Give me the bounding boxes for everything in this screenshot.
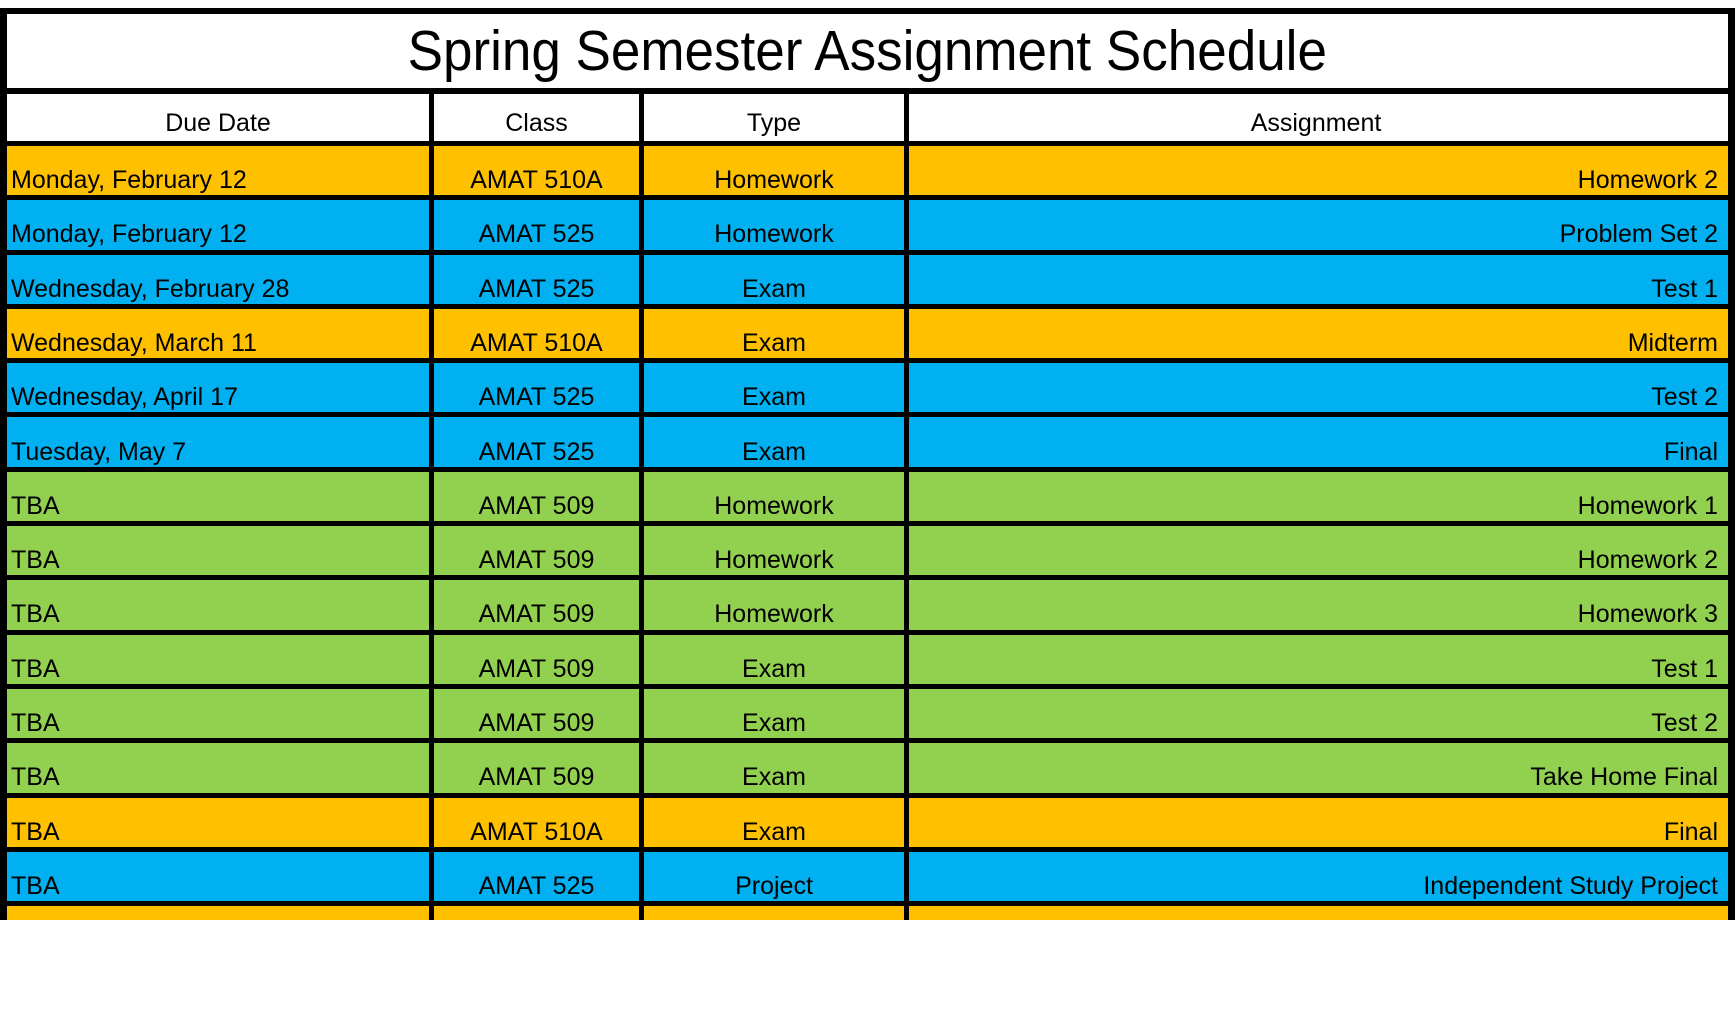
- cell-due-date[interactable]: Wednesday, April 17: [7, 363, 434, 412]
- cell-assignment[interactable]: Homework 2: [909, 526, 1723, 575]
- cell-class[interactable]: AMAT 525: [434, 417, 644, 466]
- table-row[interactable]: Wednesday, March 11AMAT 510AExamMidterm: [7, 309, 1728, 363]
- cell-assignment[interactable]: [909, 906, 1723, 920]
- cell-type[interactable]: Homework: [644, 526, 909, 575]
- cell-class[interactable]: AMAT 510A: [434, 146, 644, 195]
- cell-due-date[interactable]: TBA: [7, 472, 434, 521]
- cell-assignment[interactable]: Take Home Final: [909, 743, 1723, 792]
- cell-assignment[interactable]: Test 1: [909, 635, 1723, 684]
- cell-class[interactable]: AMAT 509: [434, 472, 644, 521]
- cell-due-date[interactable]: TBA: [7, 580, 434, 629]
- cell-class[interactable]: AMAT 509: [434, 580, 644, 629]
- cell-type[interactable]: Exam: [644, 309, 909, 358]
- cell-assignment[interactable]: Homework 3: [909, 580, 1723, 629]
- cell-assignment[interactable]: Test 2: [909, 363, 1723, 412]
- cell-assignment[interactable]: Final: [909, 798, 1723, 847]
- table-row[interactable]: TBAAMAT 509ExamTest 1: [7, 635, 1728, 689]
- table-row[interactable]: Wednesday, April 17AMAT 525ExamTest 2: [7, 363, 1728, 417]
- cell-class[interactable]: AMAT 525: [434, 200, 644, 249]
- cell-due-date[interactable]: TBA: [7, 798, 434, 847]
- schedule-table: Spring Semester Assignment Schedule Due …: [0, 8, 1735, 920]
- cell-due-date[interactable]: Wednesday, March 11: [7, 309, 434, 358]
- table-row[interactable]: TBAAMAT 510AExamFinal: [7, 798, 1728, 852]
- table-row[interactable]: TBAAMAT 525ProjectIndependent Study Proj…: [7, 852, 1728, 906]
- cell-class[interactable]: AMAT 509: [434, 689, 644, 738]
- cell-type[interactable]: Exam: [644, 363, 909, 412]
- cell-type[interactable]: Exam: [644, 635, 909, 684]
- cell-type[interactable]: Homework: [644, 580, 909, 629]
- cell-due-date[interactable]: TBA: [7, 526, 434, 575]
- table-row[interactable]: Monday, February 12AMAT 510AHomeworkHome…: [7, 146, 1728, 200]
- cell-class[interactable]: AMAT 525: [434, 363, 644, 412]
- cell-type[interactable]: Exam: [644, 689, 909, 738]
- table-row[interactable]: [7, 906, 1728, 920]
- column-header-due-date[interactable]: Due Date: [7, 94, 434, 141]
- cell-class[interactable]: AMAT 510A: [434, 309, 644, 358]
- cell-assignment[interactable]: Homework 2: [909, 146, 1723, 195]
- column-header-assignment[interactable]: Assignment: [909, 94, 1723, 141]
- cell-class[interactable]: AMAT 525: [434, 255, 644, 304]
- cell-class[interactable]: AMAT 525: [434, 852, 644, 901]
- cell-class[interactable]: AMAT 509: [434, 526, 644, 575]
- cell-type[interactable]: Exam: [644, 417, 909, 466]
- cell-due-date[interactable]: TBA: [7, 852, 434, 901]
- table-row[interactable]: TBAAMAT 509HomeworkHomework 2: [7, 526, 1728, 580]
- cell-class[interactable]: AMAT 509: [434, 635, 644, 684]
- cell-type[interactable]: Homework: [644, 472, 909, 521]
- table-row[interactable]: TBAAMAT 509HomeworkHomework 3: [7, 580, 1728, 634]
- table-header-row: Due Date Class Type Assignment: [7, 94, 1728, 146]
- cell-type[interactable]: Exam: [644, 798, 909, 847]
- cell-due-date[interactable]: Tuesday, May 7: [7, 417, 434, 466]
- table-title-row: Spring Semester Assignment Schedule: [7, 8, 1728, 94]
- cell-assignment[interactable]: Independent Study Project: [909, 852, 1723, 901]
- cell-class[interactable]: AMAT 510A: [434, 798, 644, 847]
- cell-type[interactable]: [644, 906, 909, 920]
- cell-type[interactable]: Project: [644, 852, 909, 901]
- table-row[interactable]: TBAAMAT 509ExamTest 2: [7, 689, 1728, 743]
- cell-assignment[interactable]: Test 2: [909, 689, 1723, 738]
- column-header-class[interactable]: Class: [434, 94, 644, 141]
- cell-due-date[interactable]: [7, 906, 434, 920]
- cell-due-date[interactable]: TBA: [7, 743, 434, 792]
- cell-assignment[interactable]: Midterm: [909, 309, 1723, 358]
- cell-assignment[interactable]: Problem Set 2: [909, 200, 1723, 249]
- table-row[interactable]: Wednesday, February 28AMAT 525ExamTest 1: [7, 255, 1728, 309]
- column-header-type[interactable]: Type: [644, 94, 909, 141]
- table-row[interactable]: Monday, February 12AMAT 525HomeworkProbl…: [7, 200, 1728, 254]
- cell-type[interactable]: Homework: [644, 146, 909, 195]
- table-row[interactable]: Tuesday, May 7AMAT 525ExamFinal: [7, 417, 1728, 471]
- cell-class[interactable]: [434, 906, 644, 920]
- cell-due-date[interactable]: TBA: [7, 689, 434, 738]
- cell-due-date[interactable]: Monday, February 12: [7, 200, 434, 249]
- cell-due-date[interactable]: Monday, February 12: [7, 146, 434, 195]
- cell-type[interactable]: Homework: [644, 200, 909, 249]
- cell-type[interactable]: Exam: [644, 743, 909, 792]
- cell-assignment[interactable]: Test 1: [909, 255, 1723, 304]
- table-row[interactable]: TBAAMAT 509HomeworkHomework 1: [7, 472, 1728, 526]
- cell-type[interactable]: Exam: [644, 255, 909, 304]
- table-body: Monday, February 12AMAT 510AHomeworkHome…: [7, 146, 1728, 920]
- page-title: Spring Semester Assignment Schedule: [408, 23, 1327, 80]
- cell-due-date[interactable]: Wednesday, February 28: [7, 255, 434, 304]
- cell-assignment[interactable]: Final: [909, 417, 1723, 466]
- spreadsheet-canvas: Spring Semester Assignment Schedule Due …: [0, 0, 1735, 1010]
- cell-class[interactable]: AMAT 509: [434, 743, 644, 792]
- cell-due-date[interactable]: TBA: [7, 635, 434, 684]
- table-row[interactable]: TBAAMAT 509ExamTake Home Final: [7, 743, 1728, 797]
- cell-assignment[interactable]: Homework 1: [909, 472, 1723, 521]
